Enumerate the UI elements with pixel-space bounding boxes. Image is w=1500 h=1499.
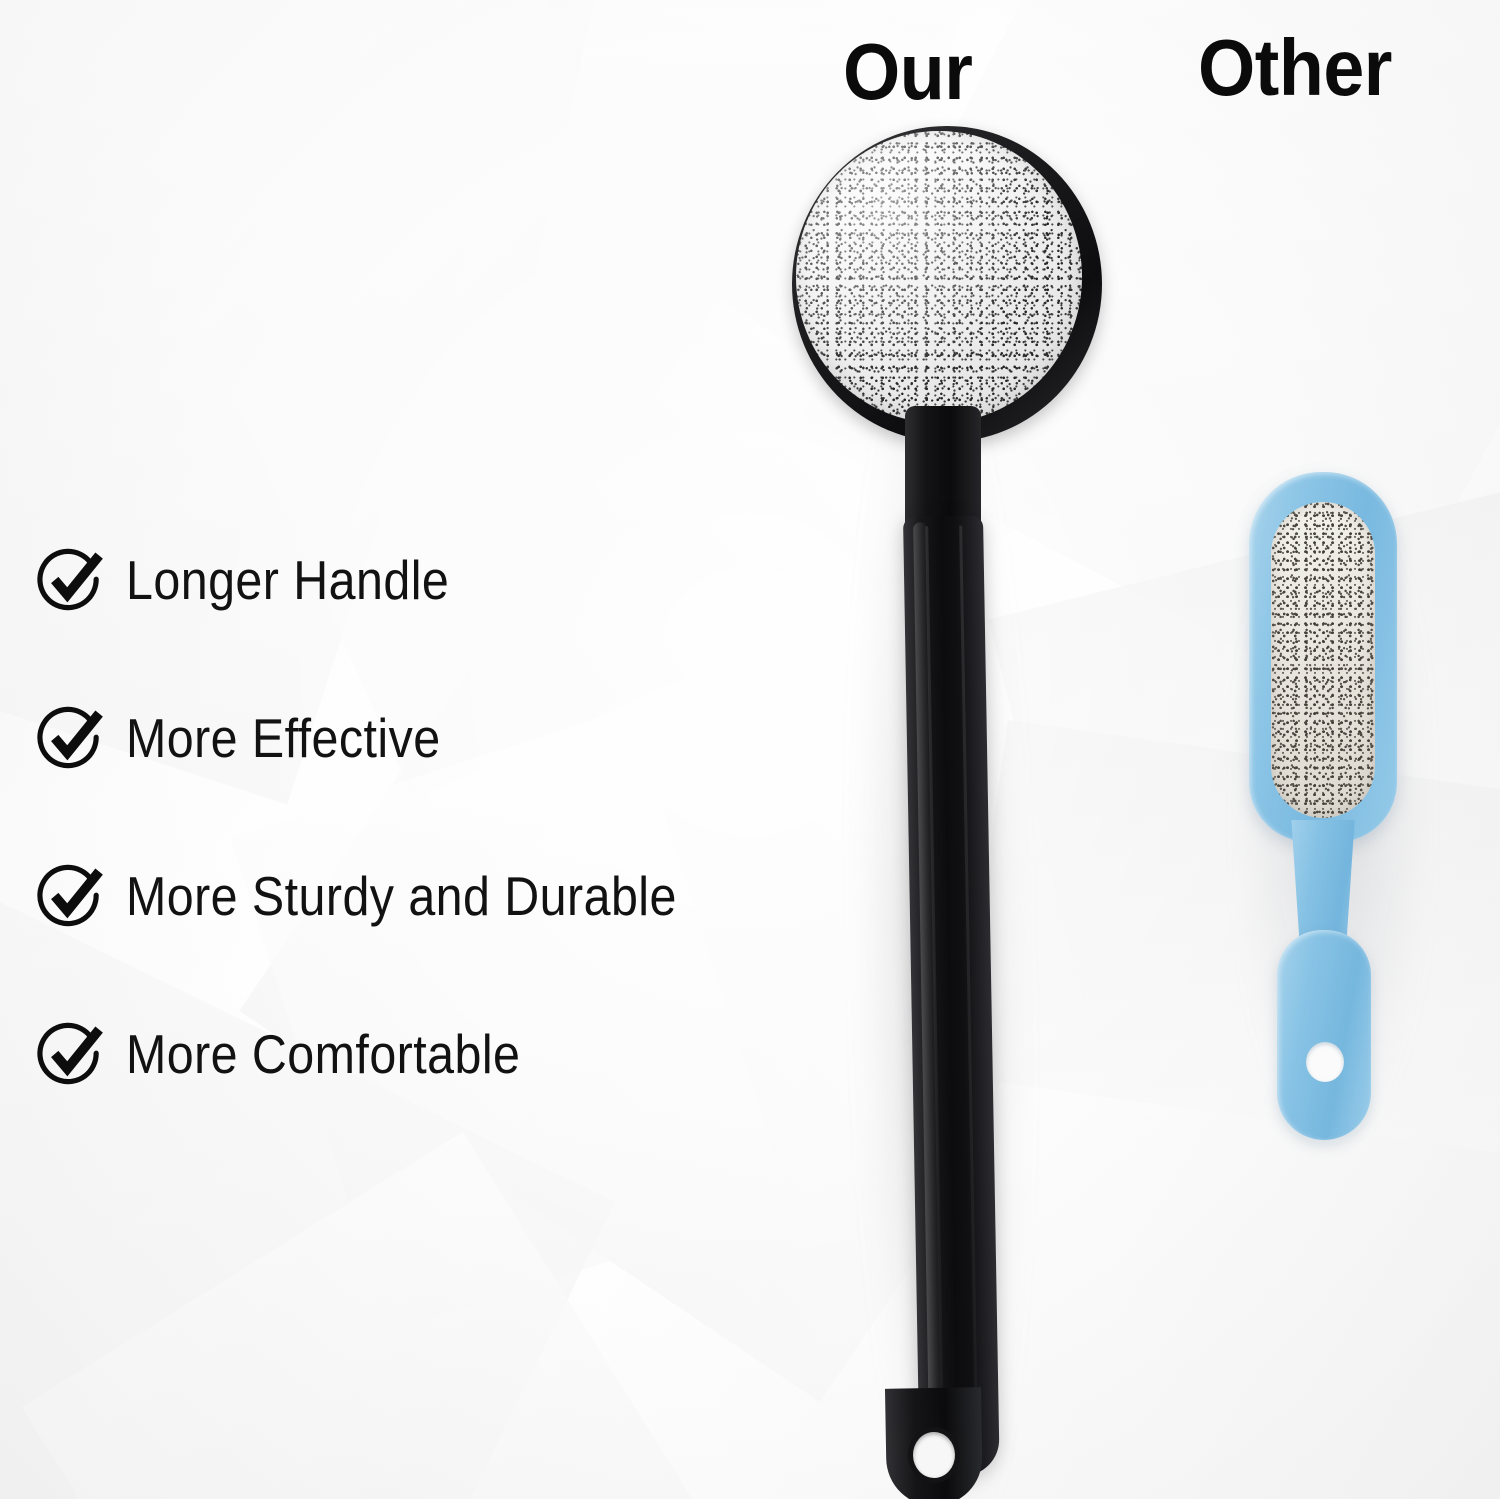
list-item-label: More Comfortable <box>126 1022 520 1086</box>
list-item-label: More Effective <box>126 706 441 770</box>
other-column-heading: Other <box>1198 28 1392 108</box>
list-item: More Effective <box>34 692 834 784</box>
our-head-pumice-disc <box>796 131 1082 423</box>
other-product-image <box>1235 460 1435 1140</box>
check-circle-icon <box>34 543 108 617</box>
other-product-handle <box>1277 930 1371 1140</box>
other-product-pumice-pad <box>1271 502 1375 818</box>
list-item-label: Longer Handle <box>126 548 449 612</box>
check-circle-icon <box>34 1017 108 1091</box>
check-circle-icon <box>34 701 108 775</box>
list-item: More Sturdy and Durable <box>34 850 834 942</box>
list-item: More Comfortable <box>34 1008 834 1100</box>
handle-groove <box>959 526 978 1426</box>
feature-benefit-list: Longer Handle More Effective More Sturdy… <box>34 534 834 1166</box>
list-item: Longer Handle <box>34 534 834 626</box>
list-item-label: More Sturdy and Durable <box>126 864 677 928</box>
our-product-image <box>770 120 1130 1480</box>
our-product-pumice-head <box>792 126 1102 442</box>
our-column-heading: Our <box>843 32 972 112</box>
comparison-image: Our Other Longer Handle More Effective <box>0 0 1500 1499</box>
our-product-handle <box>903 515 1000 1476</box>
check-circle-icon <box>34 859 108 933</box>
other-product-hang-hole <box>1306 1042 1344 1082</box>
